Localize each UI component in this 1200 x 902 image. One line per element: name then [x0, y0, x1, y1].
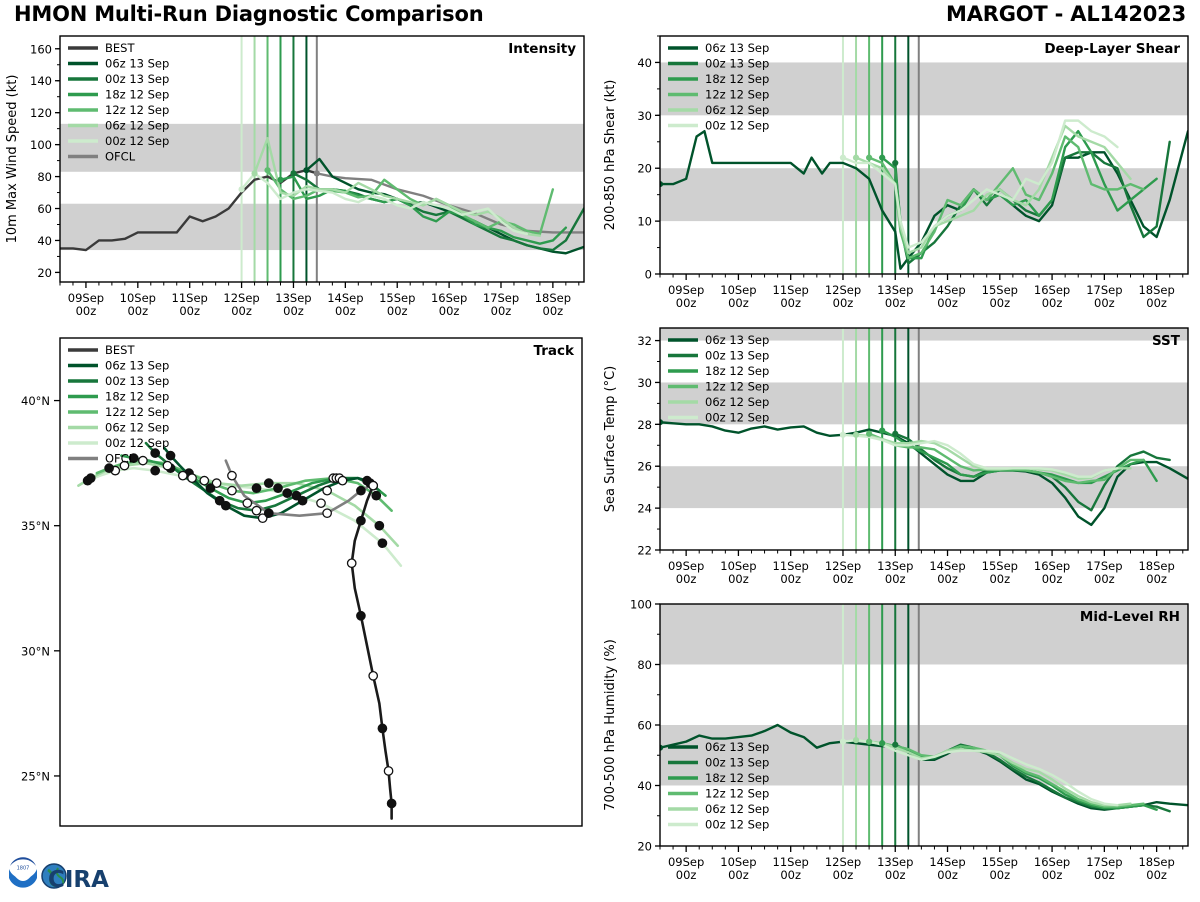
legend-label: 12z 12 Sep	[705, 88, 769, 102]
track-line-06z-12-Sep	[78, 463, 397, 546]
x-tick-label-hour: 00z	[127, 304, 148, 318]
x-axis: 09Sep00z10Sep00z11Sep00z12Sep00z13Sep00z…	[660, 846, 1183, 882]
x-axis: 09Sep00z10Sep00z11Sep00z12Sep00z13Sep00z…	[660, 550, 1183, 586]
legend-label: 06z 12 Sep	[705, 802, 769, 816]
legend-label: 06z 12 Sep	[105, 421, 169, 435]
track-marker-open	[139, 456, 147, 464]
track-marker-filled	[378, 724, 386, 732]
init-marker	[879, 428, 885, 434]
track-marker-filled	[252, 484, 260, 492]
legend-label: 12z 12 Sep	[105, 103, 169, 117]
y-tick-label: 60	[37, 202, 52, 216]
track-marker-filled	[298, 496, 306, 504]
init-marker	[866, 431, 872, 437]
legend-label: 00z 12 Sep	[705, 119, 769, 133]
legend-label: 12z 12 Sep	[105, 405, 169, 419]
init-marker	[879, 740, 885, 746]
y-axis-label: 700-500 hPa Humidity (%)	[603, 639, 618, 811]
y-tick-label: 40	[37, 234, 52, 248]
legend: BEST06z 13 Sep00z 13 Sep18z 12 Sep12z 12…	[68, 343, 169, 466]
legend-label: 06z 13 Sep	[105, 359, 169, 373]
x-tick-label-hour: 00z	[780, 868, 801, 882]
x-tick-label-hour: 00z	[989, 868, 1010, 882]
x-tick-label: 18Sep	[1138, 855, 1174, 869]
x-tick-label: 10Sep	[720, 855, 756, 869]
track-marker-open	[200, 476, 208, 484]
x-tick-label: 16Sep	[431, 291, 467, 305]
y-tick-label: 26	[637, 460, 652, 474]
x-tick-label-hour: 00z	[937, 572, 958, 586]
legend-label: 00z 12 Sep	[105, 134, 169, 148]
track-marker-filled	[265, 479, 273, 487]
x-tick-label: 11Sep	[773, 283, 809, 297]
track-marker-open	[369, 481, 377, 489]
cira-wordmark: CIRA	[48, 867, 109, 893]
track-marker-filled	[357, 612, 365, 620]
y-tick-label: 22	[637, 544, 652, 558]
x-tick-label: 10Sep	[120, 291, 156, 305]
x-tick-label-hour: 00z	[543, 304, 564, 318]
chart-shear: 010203040200-850 hPa Shear (kt)09Sep00z1…	[598, 28, 1198, 322]
y-tick-label: 10	[637, 215, 652, 229]
init-marker	[251, 170, 257, 176]
x-tick-label: 15Sep	[982, 283, 1018, 297]
panel-title: SST	[1152, 333, 1181, 349]
track-marker-filled	[151, 466, 159, 474]
x-tick-label: 13Sep	[877, 559, 913, 573]
init-marker	[290, 170, 296, 176]
init-marker	[840, 739, 846, 745]
panel-title: Deep-Layer Shear	[1044, 41, 1180, 57]
diagnostic-comparison-page: HMON Multi-Run Diagnostic Comparison MAR…	[0, 0, 1200, 900]
track-marker-filled	[387, 799, 395, 807]
track-marker-filled	[357, 486, 365, 494]
legend-label: 18z 12 Sep	[705, 364, 769, 378]
x-tick-label: 11Sep	[172, 291, 208, 305]
x-tick-label: 14Sep	[929, 855, 965, 869]
x-tick-label-hour: 00z	[676, 572, 697, 586]
init-marker	[264, 167, 270, 173]
panel-track: 25°N30°N35°N40°NTrackBEST06z 13 Sep00z 1…	[0, 330, 592, 850]
page-title-left: HMON Multi-Run Diagnostic Comparison	[14, 2, 483, 26]
y-tick-label: 100	[630, 598, 652, 612]
lat-tick-label: 40°N	[21, 394, 50, 408]
track-lines	[78, 443, 400, 818]
legend-label: OFCL	[105, 452, 136, 466]
panel-intensity: 2040608010012014016010m Max Wind Speed (…	[0, 28, 592, 330]
x-tick-label: 12Sep	[825, 855, 861, 869]
lat-tick-label: 35°N	[21, 519, 50, 533]
x-tick-label: 15Sep	[379, 291, 415, 305]
init-marker	[303, 167, 309, 173]
y-axis: 25°N30°N35°N40°N	[21, 394, 60, 783]
x-tick-label: 18Sep	[535, 291, 571, 305]
x-tick-label: 15Sep	[982, 855, 1018, 869]
x-tick-label: 09Sep	[68, 291, 104, 305]
init-marker	[840, 155, 846, 161]
x-tick-label: 10Sep	[720, 559, 756, 573]
init-marker	[314, 170, 320, 176]
y-tick-label: 32	[637, 334, 652, 348]
shaded-bands	[660, 62, 1188, 221]
panel-title: Intensity	[508, 41, 576, 57]
x-tick-label: 18Sep	[1138, 559, 1174, 573]
x-tick-label: 17Sep	[1086, 855, 1122, 869]
legend-label: 00z 13 Sep	[705, 57, 769, 71]
y-tick-label: 24	[637, 502, 652, 516]
x-tick-label-hour: 00z	[1042, 572, 1063, 586]
x-tick-label-hour: 00z	[780, 296, 801, 310]
y-axis: 222426283032	[637, 334, 660, 557]
track-marker-filled	[378, 539, 386, 547]
legend-label: 18z 12 Sep	[705, 771, 769, 785]
y-tick-label: 40	[637, 779, 652, 793]
x-tick-label-hour: 00z	[937, 296, 958, 310]
x-tick-label: 12Sep	[825, 283, 861, 297]
legend-label: 18z 12 Sep	[705, 72, 769, 86]
y-tick-label: 20	[637, 840, 652, 854]
y-tick-label: 0	[645, 268, 652, 282]
track-marker-open	[384, 767, 392, 775]
x-tick-label: 11Sep	[773, 559, 809, 573]
track-marker-filled	[375, 521, 383, 529]
y-tick-label: 100	[30, 138, 52, 152]
x-tick-label: 14Sep	[327, 291, 363, 305]
legend-label: BEST	[105, 41, 135, 55]
y-tick-label: 120	[30, 106, 52, 120]
legend-label: 00z 13 Sep	[705, 756, 769, 770]
track-marker-filled	[206, 484, 214, 492]
x-tick-label-hour: 00z	[387, 304, 408, 318]
y-tick-label: 80	[637, 658, 652, 672]
x-tick-label-hour: 00z	[885, 296, 906, 310]
track-marker-open	[163, 461, 171, 469]
x-tick-label-hour: 00z	[76, 304, 97, 318]
x-tick-label-hour: 00z	[728, 868, 749, 882]
x-tick-label-hour: 00z	[676, 868, 697, 882]
x-tick-label-hour: 00z	[335, 304, 356, 318]
x-tick-label-hour: 00z	[989, 572, 1010, 586]
chart-intensity: 2040608010012014016010m Max Wind Speed (…	[0, 28, 592, 330]
lat-tick-label: 30°N	[21, 644, 50, 658]
track-marker-open	[179, 471, 187, 479]
init-marker	[840, 432, 846, 438]
y-axis-label: Sea Surface Temp (°C)	[603, 366, 618, 513]
track-marker-filled	[357, 516, 365, 524]
legend-label: 06z 13 Sep	[705, 333, 769, 347]
x-tick-label: 12Sep	[223, 291, 259, 305]
x-tick-label-hour: 00z	[989, 296, 1010, 310]
init-marker	[853, 432, 859, 438]
x-tick-label-hour: 00z	[728, 296, 749, 310]
track-marker-filled	[274, 484, 282, 492]
x-tick-label: 17Sep	[1086, 283, 1122, 297]
x-tick-label: 09Sep	[668, 559, 704, 573]
track-marker-open	[348, 559, 356, 567]
panel-title: Track	[534, 343, 575, 359]
x-tick-label-hour: 00z	[937, 868, 958, 882]
track-marker-open	[323, 486, 331, 494]
x-tick-label: 15Sep	[982, 559, 1018, 573]
x-tick-label-hour: 00z	[1094, 572, 1115, 586]
init-marker	[853, 737, 859, 743]
y-tick-label: 160	[30, 42, 52, 56]
legend-label: 00z 13 Sep	[105, 72, 169, 86]
init-marker	[879, 155, 885, 161]
x-tick-label: 18Sep	[1138, 283, 1174, 297]
legend-label: 00z 13 Sep	[105, 374, 169, 388]
x-tick-label: 16Sep	[1034, 283, 1070, 297]
branding-logos: 1807 CIRA	[6, 856, 126, 898]
legend-label: 06z 13 Sep	[705, 41, 769, 55]
track-marker-open	[188, 474, 196, 482]
y-tick-label: 30	[637, 376, 652, 390]
legend-label: 06z 13 Sep	[705, 740, 769, 754]
y-tick-label: 28	[637, 418, 652, 432]
track-marker-open	[252, 506, 260, 514]
init-marker	[866, 739, 872, 745]
cira-logo: CIRA	[42, 864, 109, 893]
track-marker-filled	[265, 509, 273, 517]
shaded-band	[60, 204, 584, 250]
x-axis: 09Sep00z10Sep00z11Sep00z12Sep00z13Sep00z…	[60, 282, 579, 318]
y-axis-label: 200-850 hPa Shear (kt)	[603, 80, 618, 231]
x-tick-label-hour: 00z	[780, 572, 801, 586]
x-tick-label-hour: 00z	[1146, 572, 1167, 586]
x-tick-label-hour: 00z	[1094, 296, 1115, 310]
y-tick-label: 140	[30, 74, 52, 88]
legend-label: 00z 12 Sep	[705, 411, 769, 425]
init-marker	[853, 155, 859, 161]
x-tick-label: 16Sep	[1034, 855, 1070, 869]
x-tick-label: 12Sep	[825, 559, 861, 573]
shaded-band	[660, 466, 1188, 508]
legend-label: 12z 12 Sep	[705, 380, 769, 394]
x-tick-label: 09Sep	[668, 283, 704, 297]
x-tick-label-hour: 00z	[1146, 296, 1167, 310]
y-axis: 20406080100	[630, 598, 660, 854]
y-tick-label: 40	[637, 56, 652, 70]
init-marker	[866, 155, 872, 161]
y-tick-label: 60	[637, 719, 652, 733]
x-tick-label-hour: 00z	[833, 296, 854, 310]
x-tick-label-hour: 00z	[1094, 868, 1115, 882]
x-tick-label-hour: 00z	[439, 304, 460, 318]
x-tick-label: 17Sep	[483, 291, 519, 305]
x-tick-label: 17Sep	[1086, 559, 1122, 573]
x-tick-label: 13Sep	[877, 855, 913, 869]
x-tick-label: 11Sep	[773, 855, 809, 869]
track-marker-open	[338, 476, 346, 484]
y-axis-label: 10m Max Wind Speed (kt)	[5, 75, 20, 244]
track-marker-open	[228, 471, 236, 479]
panel-deep-layer-shear: 010203040200-850 hPa Shear (kt)09Sep00z1…	[598, 28, 1198, 322]
init-marker	[892, 431, 898, 437]
track-marker-open	[323, 509, 331, 517]
init-marker	[892, 160, 898, 166]
y-tick-label: 20	[37, 266, 52, 280]
track-marker-open	[243, 499, 251, 507]
legend-label: 06z 12 Sep	[705, 103, 769, 117]
panel-sst: 222426283032Sea Surface Temp (°C)09Sep00…	[598, 322, 1198, 598]
legend-label: 18z 12 Sep	[105, 88, 169, 102]
x-tick-label-hour: 00z	[283, 304, 304, 318]
init-marker	[277, 177, 283, 183]
x-tick-label-hour: 00z	[1042, 868, 1063, 882]
x-tick-label: 10Sep	[720, 283, 756, 297]
legend-label: 18z 12 Sep	[105, 390, 169, 404]
x-tick-label-hour: 00z	[833, 868, 854, 882]
x-tick-label: 16Sep	[1034, 559, 1070, 573]
track-marker-filled	[222, 501, 230, 509]
page-title-right: MARGOT - AL142023	[946, 2, 1186, 26]
legend-label: 06z 12 Sep	[705, 395, 769, 409]
y-tick-label: 30	[637, 109, 652, 123]
legend-label: 06z 12 Sep	[105, 119, 169, 133]
track-marker-filled	[87, 474, 95, 482]
x-tick-label-hour: 00z	[885, 868, 906, 882]
y-axis: 010203040	[637, 36, 660, 282]
legend-label: BEST	[105, 343, 135, 357]
svg-text:1807: 1807	[17, 866, 30, 872]
x-tick-label-hour: 00z	[728, 572, 749, 586]
x-tick-label: 13Sep	[275, 291, 311, 305]
y-tick-label: 20	[637, 162, 652, 176]
track-marker-open	[228, 486, 236, 494]
legend-label: 00z 13 Sep	[705, 349, 769, 363]
legend-label: 06z 13 Sep	[105, 57, 169, 71]
x-tick-label-hour: 00z	[491, 304, 512, 318]
legend-label: OFCL	[105, 150, 136, 164]
x-tick-label-hour: 00z	[179, 304, 200, 318]
legend-label: 00z 12 Sep	[705, 818, 769, 832]
noaa-logo: 1807	[9, 857, 37, 887]
track-marker-open	[317, 499, 325, 507]
panel-mid-level-rh: 20406080100700-500 hPa Humidity (%)09Sep…	[598, 598, 1198, 898]
chart-sst: 222426283032Sea Surface Temp (°C)09Sep00…	[598, 322, 1198, 598]
lat-tick-label: 25°N	[21, 769, 50, 783]
x-tick-label: 14Sep	[929, 559, 965, 573]
chart-rh: 20406080100700-500 hPa Humidity (%)09Sep…	[598, 598, 1198, 898]
x-tick-label-hour: 00z	[833, 572, 854, 586]
x-tick-label-hour: 00z	[1146, 868, 1167, 882]
x-tick-label-hour: 00z	[885, 572, 906, 586]
track-marker-filled	[283, 489, 291, 497]
legend-label: 12z 12 Sep	[705, 787, 769, 801]
y-axis: 20406080100120140160	[30, 42, 60, 280]
panel-title: Mid-Level RH	[1080, 609, 1180, 625]
y-tick-label: 80	[37, 170, 52, 184]
x-tick-label-hour: 00z	[1042, 296, 1063, 310]
x-tick-label: 13Sep	[877, 283, 913, 297]
x-tick-label-hour: 00z	[676, 296, 697, 310]
x-tick-label: 14Sep	[929, 283, 965, 297]
track-marker-open	[369, 672, 377, 680]
track-marker-filled	[372, 491, 380, 499]
x-tick-label: 09Sep	[668, 855, 704, 869]
init-marker	[238, 186, 244, 192]
chart-track: 25°N30°N35°N40°NTrackBEST06z 13 Sep00z 1…	[0, 330, 592, 850]
legend-label: 00z 12 Sep	[105, 436, 169, 450]
x-axis: 09Sep00z10Sep00z11Sep00z12Sep00z13Sep00z…	[660, 274, 1183, 310]
track-marker-filled	[166, 451, 174, 459]
x-tick-label-hour: 00z	[231, 304, 252, 318]
init-marker	[892, 742, 898, 748]
